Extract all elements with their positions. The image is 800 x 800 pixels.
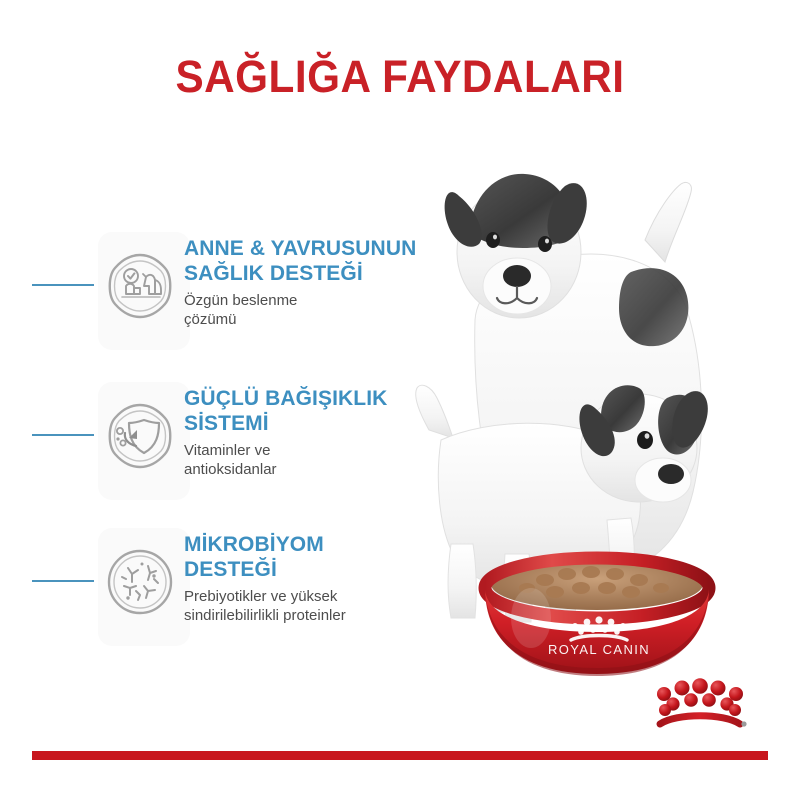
mother-and-puppy-icon: [104, 250, 176, 322]
product-photo: ROYAL CANIN: [395, 140, 800, 685]
benefit-row-2: GÜÇLÜ BAĞIŞIKLIK SİSTEMİ Vitaminler ve a…: [32, 382, 452, 500]
royal-canin-crown-logo: [648, 676, 752, 734]
benefits-infographic: SAĞLIĞA FAYDALARI: [0, 0, 800, 800]
benefit-sub-2: Vitaminler ve antioksidanlar: [184, 441, 454, 479]
benefit-text-2: GÜÇLÜ BAĞIŞIKLIK SİSTEMİ Vitaminler ve a…: [184, 386, 454, 479]
connector-line-3: [32, 580, 94, 582]
benefit-text-3: MİKROBİYOM DESTEĞİ Prebiyotikler ve yüks…: [184, 532, 454, 625]
connector-line-1: [32, 284, 94, 286]
benefit-row-3: MİKROBİYOM DESTEĞİ Prebiyotikler ve yüks…: [32, 528, 452, 646]
svg-text:ROYAL CANIN: ROYAL CANIN: [548, 642, 650, 657]
microbiome-icon: [104, 546, 176, 618]
bottom-red-rule: [32, 751, 768, 760]
page-title: SAĞLIĞA FAYDALARI: [24, 52, 776, 102]
benefit-sub-1: Özgün beslenme çözümü: [184, 291, 454, 329]
benefit-heading-3: MİKROBİYOM DESTEĞİ: [184, 532, 454, 582]
benefit-text-1: ANNE & YAVRUSUNUN SAĞLIK DESTEĞİ Özgün b…: [184, 236, 454, 329]
benefit-heading-2: GÜÇLÜ BAĞIŞIKLIK SİSTEMİ: [184, 386, 454, 436]
connector-line-2: [32, 434, 94, 436]
benefit-sub-3: Prebiyotikler ve yüksek sindirilebilirli…: [184, 587, 454, 625]
benefit-row-1: ANNE & YAVRUSUNUN SAĞLIK DESTEĞİ Özgün b…: [32, 232, 452, 350]
benefit-heading-1: ANNE & YAVRUSUNUN SAĞLIK DESTEĞİ: [184, 236, 454, 286]
immunity-shield-icon: [104, 400, 176, 472]
